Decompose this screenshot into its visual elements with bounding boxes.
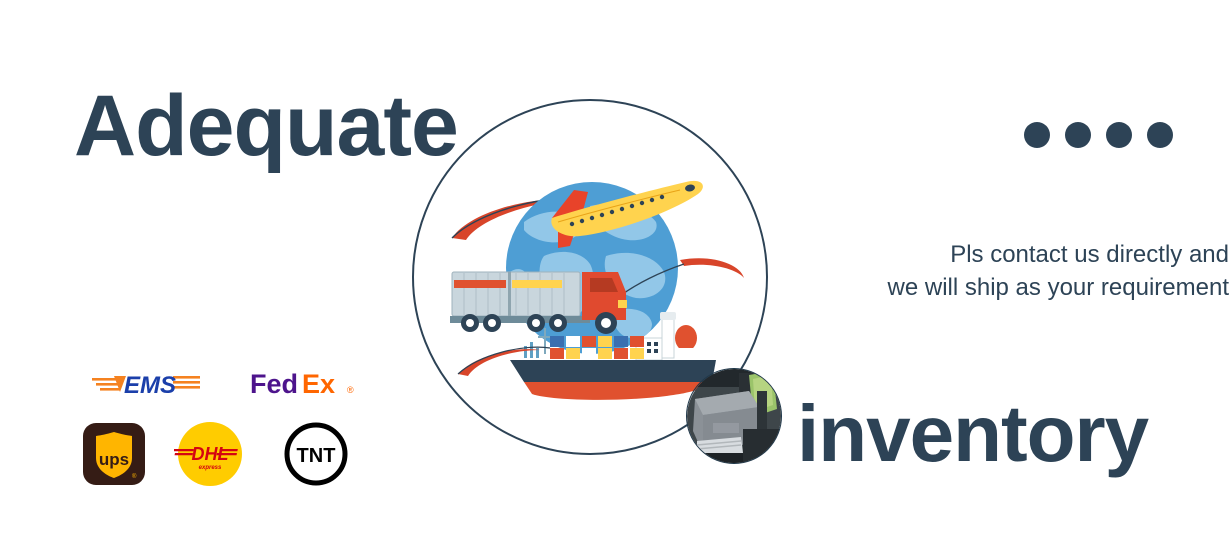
svg-text:express: express (199, 465, 222, 471)
svg-text:®: ® (347, 385, 354, 395)
svg-text:DHL: DHL (192, 444, 229, 464)
shipping-carriers-logos: EMS Fed Ex ® ups ® (78, 358, 370, 493)
svg-text:EMS: EMS (124, 372, 176, 399)
ups-logo[interactable]: ups ® (82, 420, 146, 488)
dot-2 (1065, 122, 1091, 148)
headline-word-inventory: inventory (797, 394, 1148, 474)
dot-1 (1024, 122, 1050, 148)
ems-logo[interactable]: EMS (90, 362, 202, 406)
tnt-logo[interactable]: TNT (282, 420, 350, 488)
svg-text:Fed: Fed (250, 369, 298, 399)
warehouse-packages-photo (686, 368, 782, 464)
fedex-logo[interactable]: Fed Ex ® (246, 362, 364, 406)
tagline-line-2: we will ship as your requirement (799, 271, 1229, 304)
tagline-line-1: Pls contact us directly and (799, 238, 1229, 271)
dhl-logo[interactable]: DHL express (174, 420, 246, 488)
headline-word-adequate: Adequate (74, 83, 458, 169)
svg-text:®: ® (132, 473, 137, 480)
promo-banner: Adequate Pls contact us directly and we … (0, 0, 1231, 556)
decorative-dots (1024, 122, 1173, 148)
svg-text:Ex: Ex (302, 369, 335, 399)
svg-text:ups: ups (99, 450, 129, 469)
dot-3 (1106, 122, 1132, 148)
dot-4 (1147, 122, 1173, 148)
tagline-text: Pls contact us directly and we will ship… (799, 238, 1229, 304)
svg-text:TNT: TNT (297, 445, 336, 467)
